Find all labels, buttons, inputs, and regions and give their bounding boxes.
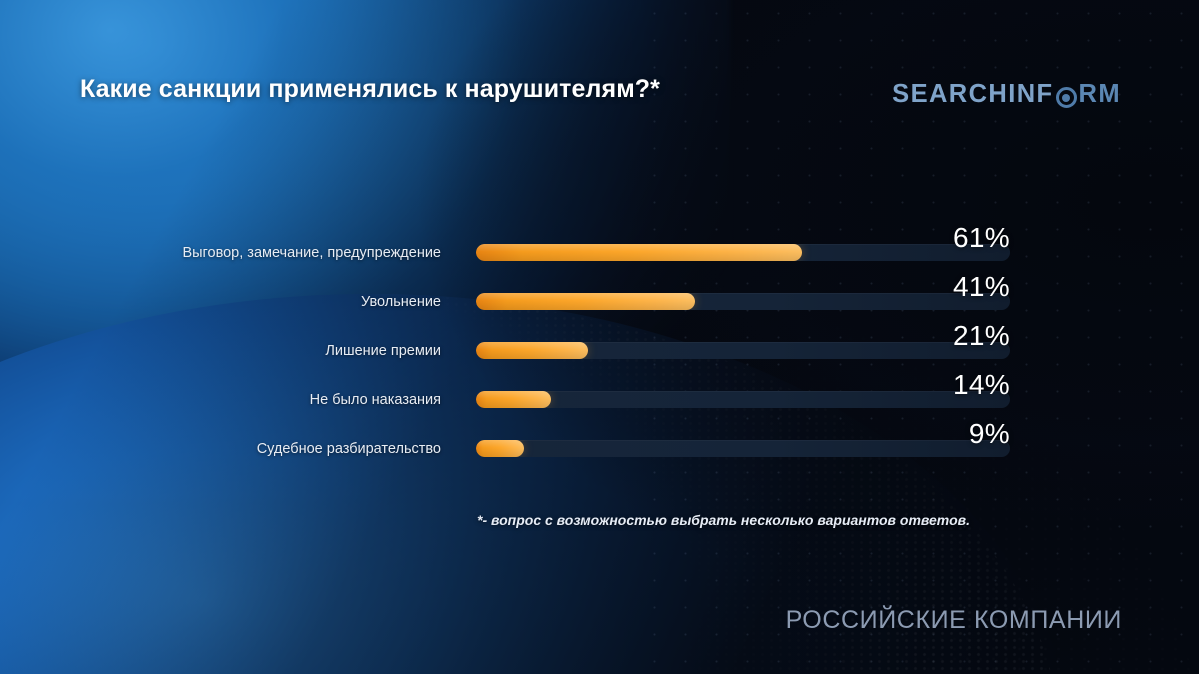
chart-row: Не было наказания14%: [0, 375, 1199, 424]
bar-category-label: Выговор, замечание, предупреждение: [0, 245, 441, 261]
chart-row: Выговор, замечание, предупреждение61%: [0, 228, 1199, 277]
target-o-icon: [1056, 87, 1077, 108]
bar-value-label: 14%: [900, 369, 1010, 401]
searchinform-logo: SEARCHINF RM: [892, 80, 1121, 109]
chart-row: Увольнение41%: [0, 277, 1199, 326]
bar-fill: [476, 293, 695, 310]
logo-text-left: SEARCHINF: [892, 80, 1053, 109]
bar-fill: [476, 391, 551, 408]
bar-category-label: Лишение премии: [0, 343, 441, 359]
chart-row: Лишение премии21%: [0, 326, 1199, 375]
bar-value-label: 61%: [900, 222, 1010, 254]
logo-text-right: RM: [1079, 80, 1121, 109]
bar-fill: [476, 342, 588, 359]
bar-category-label: Судебное разбирательство: [0, 441, 441, 457]
bar-category-label: Увольнение: [0, 294, 441, 310]
bar-value-label: 9%: [900, 418, 1010, 450]
bar-value-label: 21%: [900, 320, 1010, 352]
bar-value-label: 41%: [900, 271, 1010, 303]
slide-caption: РОССИЙСКИЕ КОМПАНИИ: [786, 606, 1122, 635]
bar-fill: [476, 244, 802, 261]
chart-row: Судебное разбирательство9%: [0, 424, 1199, 473]
horizontal-bar-chart: Выговор, замечание, предупреждение61%Уво…: [0, 228, 1199, 473]
footnote: *- вопрос с возможностью выбрать несколь…: [477, 512, 970, 528]
bar-category-label: Не было наказания: [0, 392, 441, 408]
page-title: Какие санкции применялись к нарушителям?…: [80, 75, 660, 104]
bar-fill: [476, 440, 524, 457]
slide-canvas: Какие санкции применялись к нарушителям?…: [0, 0, 1199, 674]
